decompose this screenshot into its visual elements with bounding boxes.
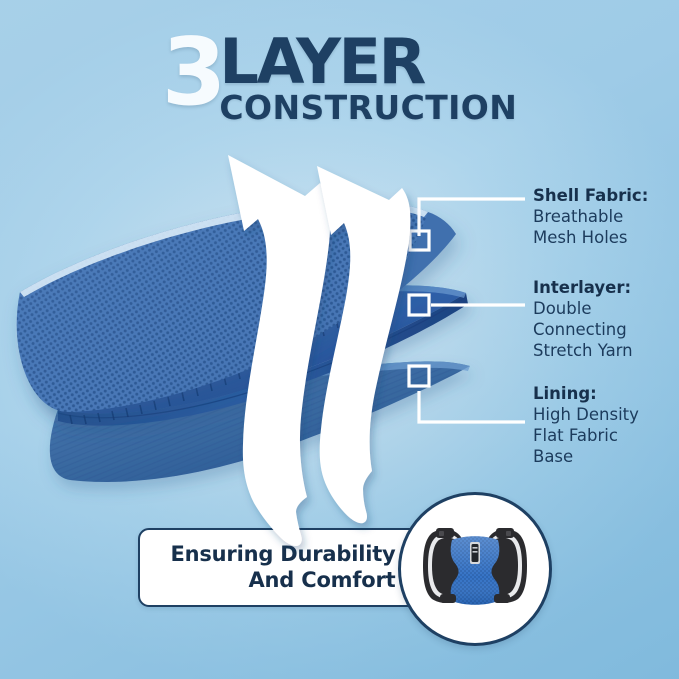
headline-number: 3 [162,30,222,116]
callout-shell-fabric-line-1: Breathable [533,207,648,228]
product-image-circle [398,492,552,646]
callout-lining-line-3: Base [533,447,639,468]
tagline-line-1: Ensuring Durability [170,542,395,568]
callout-lining-title: Lining: [533,384,639,405]
infographic-canvas: 3 LAYER CONSTRUCTION Shell Fabric: Breat… [0,0,679,679]
dog-harness-icon [412,506,538,632]
tagline-banner: Ensuring Durability And Comfort [138,528,432,607]
callout-lining-line-1: High Density [533,405,639,426]
tagline-text: Ensuring Durability And Comfort [160,542,409,593]
callout-lining: Lining: High Density Flat Fabric Base [533,384,639,467]
headline-word-construction: CONSTRUCTION [219,91,517,124]
fabric-layers-illustration [0,120,520,520]
callout-interlayer: Interlayer: Double Connecting Stretch Ya… [533,278,633,361]
callout-lining-line-2: Flat Fabric [533,426,639,447]
callout-shell-fabric-line-2: Mesh Holes [533,228,648,249]
callout-interlayer-title: Interlayer: [533,278,633,299]
callout-interlayer-line-1: Double [533,299,633,320]
callout-shell-fabric-title: Shell Fabric: [533,186,648,207]
tagline-line-2: And Comfort [170,568,395,594]
headline-word-layer: LAYER [219,35,517,88]
callout-shell-fabric: Shell Fabric: Breathable Mesh Holes [533,186,648,249]
headline: 3 LAYER CONSTRUCTION [0,30,679,124]
callout-interlayer-line-3: Stretch Yarn [533,341,633,362]
callout-interlayer-line-2: Connecting [533,320,633,341]
